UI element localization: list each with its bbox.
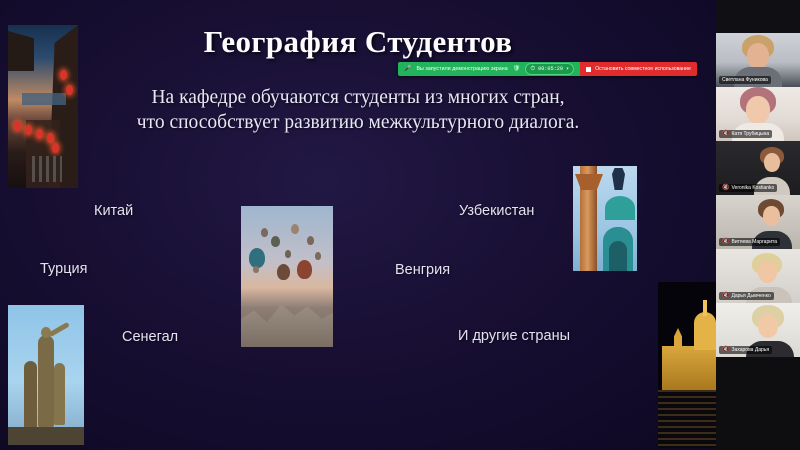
photo-turkey-balloons — [241, 206, 333, 347]
share-timer-value: 00:05:29 — [538, 66, 563, 72]
share-timer[interactable]: ⏱ 00:05:29 ▾ — [525, 63, 574, 75]
participant-name: Катя Трубицына — [731, 131, 769, 137]
country-label-hungary: Венгрия — [395, 262, 450, 278]
participants-rail[interactable]: Светлана Фуникова 🔇 Катя Трубицына 🔇 — [716, 0, 800, 450]
subtitle-line-1: На кафедре обучаются студенты из многих … — [58, 86, 658, 111]
subtitle-line-2: что способствует развитию межкультурного… — [58, 111, 658, 136]
mic-muted-icon: 🔇 — [722, 347, 729, 353]
participant-tile[interactable]: 🔇 Veronika Kostianko — [716, 141, 800, 195]
participant-tile[interactable]: 🔇 Витяева Маргарита — [716, 195, 800, 249]
country-label-china: Китай — [94, 203, 133, 219]
participant-tile[interactable]: Светлана Фуникова — [716, 33, 800, 87]
rail-top-spacer — [716, 0, 800, 33]
participant-name: Витяева Маргарита — [731, 239, 777, 245]
participant-tile[interactable]: 🔇 Дарья Дымченко — [716, 249, 800, 303]
mic-muted-icon: 🔇 — [722, 293, 729, 299]
mic-muted-icon: 🔇 — [722, 185, 729, 191]
participant-name: Veronika Kostianko — [731, 185, 774, 191]
participant-tile[interactable]: 🔇 Захарова Дарья — [716, 303, 800, 357]
photo-uzbekistan-mosque — [573, 166, 637, 271]
mic-muted-icon: 🔇 — [722, 131, 729, 137]
participant-name-badge: 🔇 Захарова Дарья — [719, 346, 772, 354]
participant-name: Светлана Фуникова — [722, 77, 768, 83]
rail-bottom-spacer — [716, 357, 800, 450]
country-label-uzbekistan: Узбекистан — [459, 203, 534, 219]
stop-square-icon — [586, 67, 591, 72]
stop-sharing-label: Остановить совместное использование — [595, 66, 691, 72]
participant-name: Дарья Дымченко — [731, 293, 770, 299]
share-status-group: 🎤 Вы запустили демонстрацию экрана 🛡 ⏱ 0… — [398, 62, 580, 76]
screen-share-toolbar[interactable]: 🎤 Вы запустили демонстрацию экрана 🛡 ⏱ 0… — [398, 62, 697, 76]
slide-subtitle: На кафедре обучаются студенты из многих … — [58, 86, 658, 136]
country-label-turkey: Турция — [40, 261, 87, 277]
photo-hungary-parliament — [658, 282, 716, 448]
country-label-senegal: Сенегал — [122, 329, 178, 345]
participant-name: Захарова Дарья — [731, 347, 769, 353]
participant-name-badge: 🔇 Дарья Дымченко — [719, 292, 774, 300]
shield-icon[interactable]: 🛡 — [513, 66, 521, 72]
photo-china-lantern-street — [8, 25, 78, 188]
country-label-other-countries: И другие страны — [458, 328, 570, 344]
mic-icon[interactable]: 🎤 — [404, 66, 411, 72]
stop-sharing-button[interactable]: Остановить совместное использование — [580, 62, 697, 76]
participant-name-badge: 🔇 Veronika Kostianko — [719, 184, 777, 192]
participant-name-badge: 🔇 Катя Трубицына — [719, 130, 772, 138]
page-title: География Студентов — [0, 24, 716, 60]
clock-icon: ⏱ — [530, 66, 535, 72]
chevron-down-icon[interactable]: ▾ — [566, 66, 569, 72]
photo-senegal-monument — [8, 305, 84, 445]
participant-tile[interactable]: 🔇 Катя Трубицына — [716, 87, 800, 141]
mic-muted-icon: 🔇 — [722, 239, 729, 245]
share-status-text: Вы запустили демонстрацию экрана — [416, 66, 507, 72]
participant-name-badge: Светлана Фуникова — [719, 76, 771, 84]
screen-share-view: География Студентов На кафедре обучаются… — [0, 0, 800, 450]
participant-name-badge: 🔇 Витяева Маргарита — [719, 238, 780, 246]
